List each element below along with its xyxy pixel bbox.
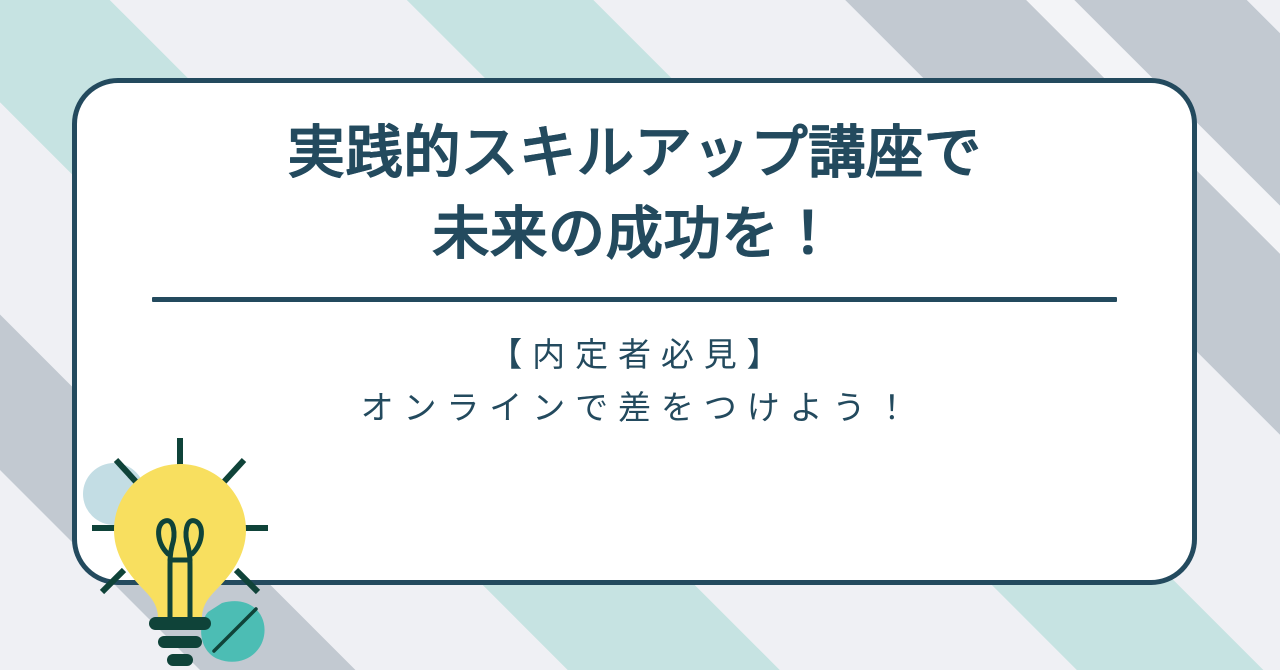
- content-card: 実践的スキルアップ講座で 未来の成功を！ 【内定者必見】 オンラインで差をつけよ…: [72, 78, 1197, 585]
- page-title-line-1: 実践的スキルアップ講座で: [287, 113, 981, 194]
- title-divider: [152, 297, 1117, 302]
- slide-canvas: 実践的スキルアップ講座で 未来の成功を！ 【内定者必見】 オンラインで差をつけよ…: [0, 0, 1280, 670]
- subheading-block: 【内定者必見】 オンラインで差をつけよう！: [351, 328, 919, 435]
- subheading-line-2: オンラインで差をつけよう！: [351, 381, 919, 434]
- subheading-line-1: 【内定者必見】: [351, 328, 919, 381]
- page-title-line-2: 未来の成功を！: [432, 194, 837, 275]
- card-inner: 実践的スキルアップ講座で 未来の成功を！ 【内定者必見】 オンラインで差をつけよ…: [77, 83, 1192, 580]
